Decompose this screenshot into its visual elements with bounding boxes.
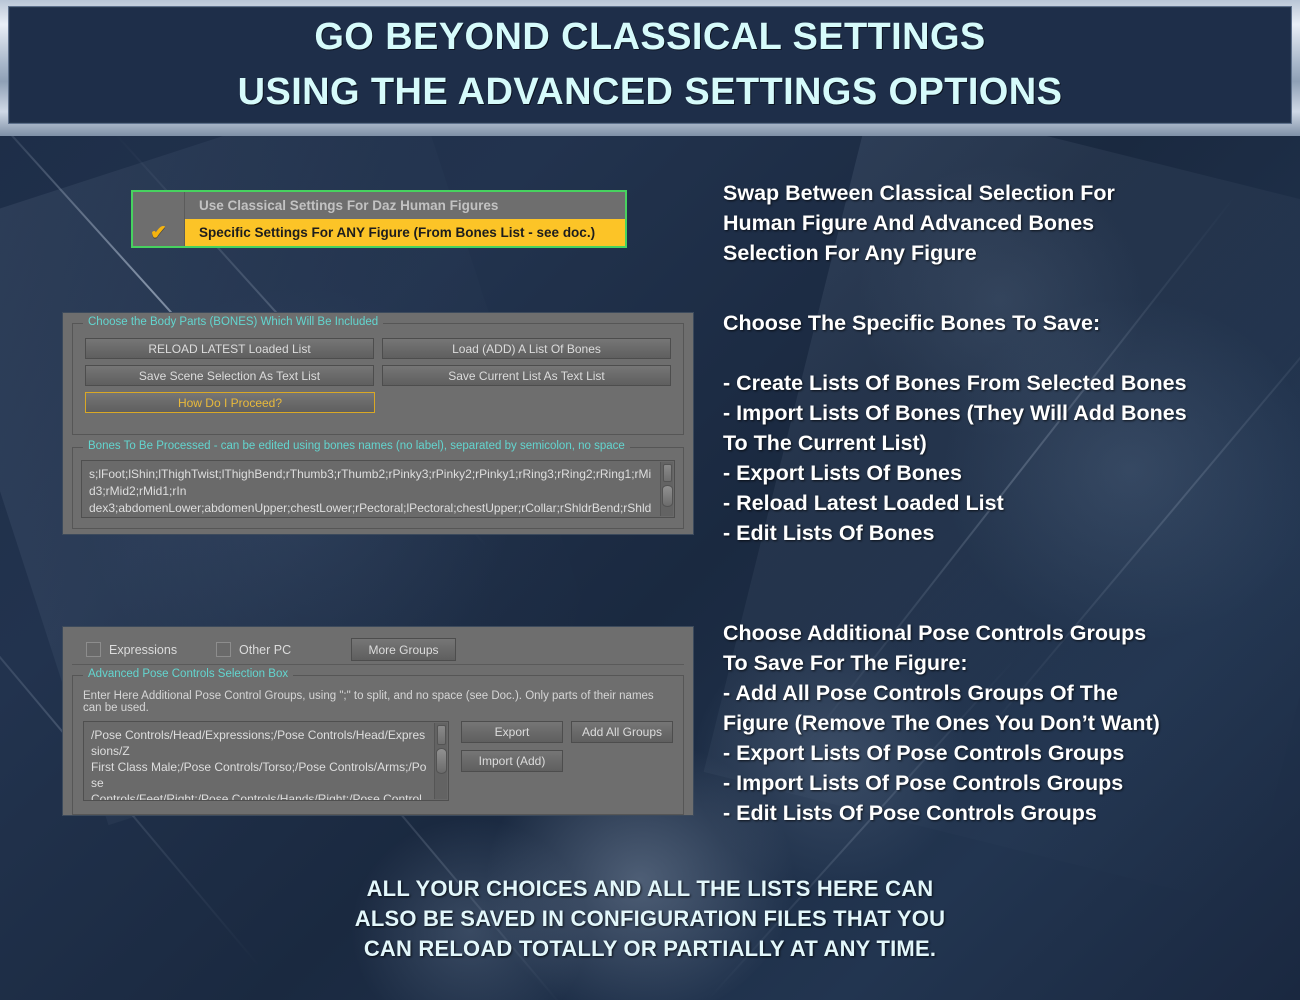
import-add-pose-groups-button[interactable]: Import (Add) <box>461 750 563 772</box>
annotation-spacer <box>723 338 1283 368</box>
bones-button-row-3: How Do I Proceed? <box>85 392 671 413</box>
annotation-heading: Choose The Specific Bones To Save: <box>723 308 1283 338</box>
annotation-line: - Add All Pose Controls Groups Of The <box>723 678 1283 708</box>
checkmark-icon: ✔ <box>150 223 167 243</box>
pose-side-button-row-1: Export Add All Groups <box>461 721 673 743</box>
scrollbar-thumb[interactable] <box>437 725 446 745</box>
pose-textarea-scrollbar[interactable] <box>434 723 447 799</box>
how-do-i-proceed-button[interactable]: How Do I Proceed? <box>85 392 375 413</box>
bones-text-group-legend: Bones To Be Processed - can be edited us… <box>83 440 630 452</box>
annotation-line: - Create Lists Of Bones From Selected Bo… <box>723 368 1283 398</box>
checkbox-other-pc[interactable] <box>216 642 231 657</box>
more-groups-button[interactable]: More Groups <box>351 638 456 661</box>
bones-textarea-scrollbar[interactable] <box>660 462 673 516</box>
scrollbar-grip[interactable] <box>436 748 447 774</box>
checkbox-other-pc-row[interactable]: Other PC <box>216 642 351 657</box>
checkbox-expressions-row[interactable]: Expressions <box>86 642 216 657</box>
footer-line: ALL YOUR CHOICES AND ALL THE LISTS HERE … <box>0 874 1300 904</box>
option-specific-settings[interactable]: ✔ Specific Settings For ANY Figure (From… <box>133 219 625 246</box>
annotation-line: - Import Lists Of Pose Controls Groups <box>723 768 1283 798</box>
pose-controls-side-buttons: Export Add All Groups Import (Add) <box>461 721 673 801</box>
scrollbar-thumb[interactable] <box>663 464 672 482</box>
pose-controls-hint: Enter Here Additional Pose Control Group… <box>83 690 673 714</box>
annotation-line: Figure (Remove The Ones You Don’t Want) <box>723 708 1283 738</box>
settings-mode-toggle-panel: Use Classical Settings For Daz Human Fig… <box>131 190 627 248</box>
option-specific-settings-label: Specific Settings For ANY Figure (From B… <box>185 225 595 240</box>
footer-note: ALL YOUR CHOICES AND ALL THE LISTS HERE … <box>0 874 1300 964</box>
pose-side-button-row-2: Import (Add) <box>461 750 673 772</box>
annotation-block-swap-selection: Swap Between Classical Selection For Hum… <box>723 178 1283 268</box>
save-current-list-as-text-list-button[interactable]: Save Current List As Text List <box>382 365 671 386</box>
option-classical-settings-label: Use Classical Settings For Daz Human Fig… <box>185 198 498 213</box>
checkbox-expressions[interactable] <box>86 642 101 657</box>
annotation-heading: Choose Additional Pose Controls Groups <box>723 618 1283 648</box>
bones-button-row-2: Save Scene Selection As Text List Save C… <box>85 365 671 386</box>
checkbox-other-pc-label: Other PC <box>239 643 291 657</box>
option-classical-settings[interactable]: Use Classical Settings For Daz Human Fig… <box>133 192 625 219</box>
bones-to-be-processed-textarea[interactable]: s;lFoot;lShin;lThighTwist;lThighBend;rTh… <box>81 460 675 518</box>
checkbox-expressions-label: Expressions <box>109 643 177 657</box>
pose-controls-body: /Pose Controls/Head/Expressions;/Pose Co… <box>83 721 673 801</box>
pose-text-line: First Class Male;/Pose Controls/Torso;/P… <box>91 759 428 791</box>
bones-button-row-1: RELOAD LATEST Loaded List Load (ADD) A L… <box>85 338 671 359</box>
bones-panel: Choose the Body Parts (BONES) Which Will… <box>62 312 694 535</box>
annotation-line: Swap Between Classical Selection For <box>723 178 1283 208</box>
bones-text-line: s;lFoot;lShin;lThighTwist;lThighBend;rTh… <box>89 466 654 500</box>
annotation-block-pose-controls: Choose Additional Pose Controls Groups T… <box>723 618 1283 828</box>
annotation-line: - Edit Lists Of Bones <box>723 518 1283 548</box>
annotation-line: - Export Lists Of Bones <box>723 458 1283 488</box>
pose-controls-text-content: /Pose Controls/Head/Expressions;/Pose Co… <box>84 722 448 801</box>
bones-text-line: dex3;abdomenLower;abdomenUpper;chestLowe… <box>89 500 654 518</box>
annotation-block-choose-bones: Choose The Specific Bones To Save: - Cre… <box>723 308 1283 548</box>
annotation-line: Human Figure And Advanced Bones <box>723 208 1283 238</box>
save-scene-selection-as-text-list-button[interactable]: Save Scene Selection As Text List <box>85 365 374 386</box>
title-line-2: USING THE ADVANCED SETTINGS OPTIONS <box>238 65 1063 120</box>
annotation-line: - Export Lists Of Pose Controls Groups <box>723 738 1283 768</box>
pose-controls-top-row: Expressions Other PC More Groups <box>72 635 684 665</box>
pose-controls-textarea[interactable]: /Pose Controls/Head/Expressions;/Pose Co… <box>83 721 449 801</box>
add-all-groups-button[interactable]: Add All Groups <box>571 721 673 743</box>
reload-latest-loaded-list-button[interactable]: RELOAD LATEST Loaded List <box>85 338 374 359</box>
bones-text-group: Bones To Be Processed - can be edited us… <box>72 447 684 529</box>
footer-line: ALSO BE SAVED IN CONFIGURATION FILES THA… <box>0 904 1300 934</box>
load-add-list-of-bones-button[interactable]: Load (ADD) A List Of Bones <box>382 338 671 359</box>
title-line-1: GO BEYOND CLASSICAL SETTINGS <box>314 10 985 65</box>
footer-line: CAN RELOAD TOTALLY OR PARTIALLY AT ANY T… <box>0 934 1300 964</box>
annotation-line: - Import Lists Of Bones (They Will Add B… <box>723 398 1283 428</box>
bones-group: Choose the Body Parts (BONES) Which Will… <box>72 323 684 435</box>
scrollbar-grip[interactable] <box>662 485 673 507</box>
checkbox-specific-settings[interactable]: ✔ <box>133 219 185 246</box>
annotation-heading: To Save For The Figure: <box>723 648 1283 678</box>
pose-text-line: Controls/Feet/Right;/Pose Controls/Hands… <box>91 791 428 801</box>
bones-text-content: s;lFoot;lShin;lThighTwist;lThighBend;rTh… <box>82 461 674 518</box>
annotation-line: - Reload Latest Loaded List <box>723 488 1283 518</box>
pose-controls-panel: Expressions Other PC More Groups Advance… <box>62 626 694 816</box>
advanced-pose-controls-group: Advanced Pose Controls Selection Box Ent… <box>72 675 684 815</box>
checkbox-classical-settings[interactable] <box>133 192 185 219</box>
annotation-line: - Edit Lists Of Pose Controls Groups <box>723 798 1283 828</box>
export-pose-groups-button[interactable]: Export <box>461 721 563 743</box>
title-banner: GO BEYOND CLASSICAL SETTINGS USING THE A… <box>0 0 1300 136</box>
advanced-pose-controls-legend: Advanced Pose Controls Selection Box <box>83 668 293 680</box>
bones-group-legend: Choose the Body Parts (BONES) Which Will… <box>83 316 383 328</box>
pose-text-line: /Pose Controls/Head/Expressions;/Pose Co… <box>91 727 428 759</box>
annotation-line: Selection For Any Figure <box>723 238 1283 268</box>
title-banner-inner: GO BEYOND CLASSICAL SETTINGS USING THE A… <box>8 6 1292 124</box>
bones-button-row-3-spacer <box>383 392 671 413</box>
annotation-line: To The Current List) <box>723 428 1283 458</box>
